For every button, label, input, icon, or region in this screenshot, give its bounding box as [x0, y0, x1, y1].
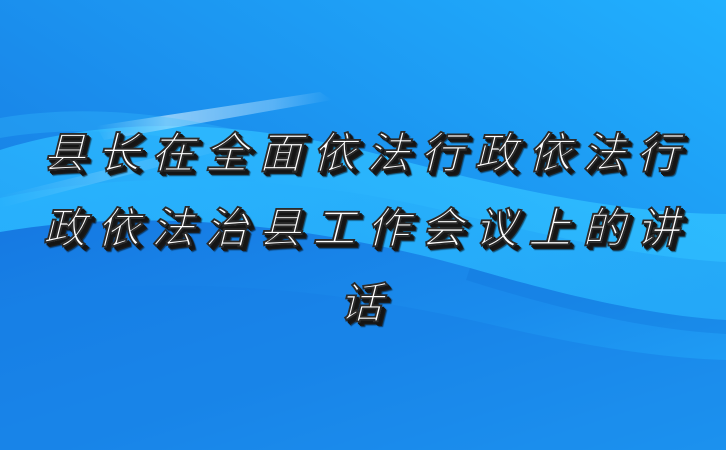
background-graphic: [0, 0, 726, 450]
poster-canvas: 县长在全面依法行政依法行 政依法治县工作会议上的讲 话: [0, 0, 726, 450]
